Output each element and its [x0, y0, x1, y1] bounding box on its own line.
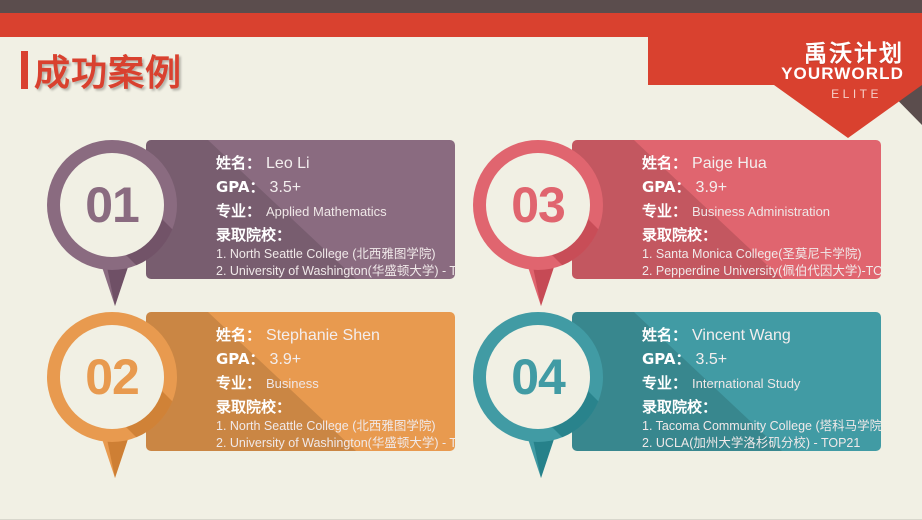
schools-label: 录取院校：	[642, 396, 871, 417]
major-label: 专业：	[642, 200, 687, 221]
major-label: 专业：	[642, 372, 687, 393]
slide-canvas: 禹沃计划 YOURWORLD ELITE 成功案例 姓名：Leo LiGPA：3…	[0, 0, 922, 520]
pin-inner-circle: 03	[486, 153, 590, 257]
schools-label: 录取院校：	[216, 224, 445, 245]
gpa-value: 3.9+	[696, 179, 728, 197]
gpa-label: GPA：	[216, 348, 265, 369]
school-item: 1. Santa Monica College(圣莫尼卡学院)	[642, 246, 871, 263]
school-item: 1. Tacoma Community College (塔科马学院)	[642, 418, 871, 435]
pin-inner-circle: 02	[60, 325, 164, 429]
case-number-pin: 04	[473, 312, 625, 479]
case-number: 02	[85, 352, 139, 402]
field-row: 专业： Applied Mathematics	[216, 200, 445, 221]
logo-chinese-name: 禹沃计划	[804, 34, 904, 68]
student-name-value: Stephanie Shen	[266, 327, 380, 345]
pin-inner-circle: 04	[486, 325, 590, 429]
logo-text-group: 禹沃计划 YOURWORLD ELITE	[648, 13, 922, 138]
title-accent-bar	[21, 51, 28, 89]
school-item: 2. University of Washington(华盛顿大学) - TOP…	[216, 435, 445, 451]
logo-english-name: YOURWORLD	[781, 64, 904, 84]
case-number-pin: 03	[473, 140, 625, 307]
name-label: 姓名：	[642, 152, 687, 173]
field-row: 姓名：Paige Hua	[642, 152, 871, 173]
school-item: 2. Pepperdine University(佩伯代因大学)-TOP46	[642, 263, 871, 279]
logo-tier-label: ELITE	[831, 87, 882, 101]
major-label: 专业：	[216, 372, 261, 393]
major-value: Business	[266, 376, 319, 391]
field-row: GPA：3.5+	[216, 176, 445, 197]
case-fields: 姓名：Vincent WangGPA：3.5+专业： International…	[642, 324, 871, 451]
field-row: 专业： Business	[216, 372, 445, 393]
page-title-text: 成功案例	[34, 44, 182, 96]
case-number: 03	[511, 180, 565, 230]
school-item: 1. North Seattle College (北西雅图学院)	[216, 246, 445, 263]
major-label: 专业：	[216, 200, 261, 221]
brand-logo: 禹沃计划 YOURWORLD ELITE	[648, 13, 922, 138]
gpa-value: 3.5+	[696, 351, 728, 369]
case-number: 04	[511, 352, 565, 402]
student-name-value: Leo Li	[266, 155, 310, 173]
case-number-pin: 02	[47, 312, 199, 479]
name-label: 姓名：	[216, 324, 261, 345]
field-row: GPA：3.9+	[216, 348, 445, 369]
field-row: 姓名：Vincent Wang	[642, 324, 871, 345]
case-fields: 姓名：Paige HuaGPA：3.9+专业： Business Adminis…	[642, 152, 871, 279]
gpa-label: GPA：	[216, 176, 265, 197]
case-fields: 姓名：Leo LiGPA：3.5+专业： Applied Mathematics…	[216, 152, 445, 279]
gpa-label: GPA：	[642, 176, 691, 197]
field-row: 姓名：Stephanie Shen	[216, 324, 445, 345]
gpa-value: 3.5+	[270, 179, 302, 197]
pin-inner-circle: 01	[60, 153, 164, 257]
name-label: 姓名：	[216, 152, 261, 173]
page-title: 成功案例	[21, 44, 182, 96]
student-name-value: Vincent Wang	[692, 327, 791, 345]
name-label: 姓名：	[642, 324, 687, 345]
student-name-value: Paige Hua	[692, 155, 767, 173]
school-item: 2. University of Washington(华盛顿大学) - TOP…	[216, 263, 445, 279]
gpa-value: 3.9+	[270, 351, 302, 369]
school-item: 2. UCLA(加州大学洛杉矶分校) - TOP21	[642, 435, 871, 451]
field-row: 姓名：Leo Li	[216, 152, 445, 173]
major-value: International Study	[692, 376, 800, 391]
major-value: Applied Mathematics	[266, 204, 387, 219]
field-row: 专业： Business Administration	[642, 200, 871, 221]
case-number-pin: 01	[47, 140, 199, 307]
schools-label: 录取院校：	[216, 396, 445, 417]
gpa-label: GPA：	[642, 348, 691, 369]
field-row: GPA：3.9+	[642, 176, 871, 197]
case-number: 01	[85, 180, 139, 230]
field-row: GPA：3.5+	[642, 348, 871, 369]
case-fields: 姓名：Stephanie ShenGPA：3.9+专业： Business录取院…	[216, 324, 445, 451]
field-row: 专业： International Study	[642, 372, 871, 393]
schools-label: 录取院校：	[642, 224, 871, 245]
major-value: Business Administration	[692, 204, 830, 219]
school-item: 1. North Seattle College (北西雅图学院)	[216, 418, 445, 435]
top-dark-bar	[0, 0, 922, 13]
